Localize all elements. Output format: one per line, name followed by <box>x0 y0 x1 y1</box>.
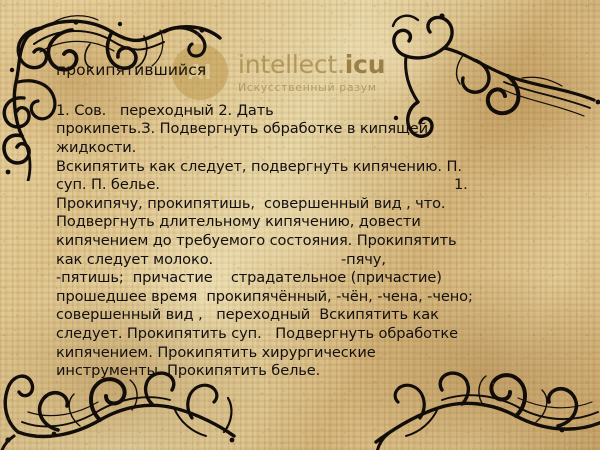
definition-line: прошедшее время прокипячённый, -чён, -че… <box>56 288 582 307</box>
definition-line: совершенный вид , переходный Вскипятить … <box>56 306 582 325</box>
definition-line: следует. Прокипятить суп. Подвергнуть об… <box>56 325 582 344</box>
definition-line: жидкости. <box>56 139 582 158</box>
definition-line: 1. Сов. переходный 2. Дать <box>56 102 582 121</box>
definition-line: инструменты. Прокипятить белье. <box>56 362 582 381</box>
definition-line: прокипеть.З. Подвергнуть обработке в кип… <box>56 120 582 139</box>
definition-line-tail: 1. <box>454 176 468 195</box>
definition-line: как следует молоко.-пячу, <box>56 251 582 270</box>
definition-line-tail: -пячу, <box>341 251 386 270</box>
definition-line: Подвергнуть длительному кипячению, довес… <box>56 213 582 232</box>
definition-line: кипячением до требуемого состояния. Прок… <box>56 232 582 251</box>
page-title: прокипятившийся <box>56 62 582 80</box>
slide-content: прокипятившийся 1. Сов. переходный 2. Да… <box>0 0 600 381</box>
definition-text: 1. Сов. переходный 2. Датьпрокипеть.З. П… <box>56 102 582 381</box>
definition-line: -пятишь; причастие страдательное (причас… <box>56 269 582 288</box>
definition-line: Вскипятить как следует, подвергнуть кипя… <box>56 158 582 177</box>
definition-line: суп. П. белье.1. <box>56 176 582 195</box>
slide-canvas: AI intellect.icu Искусственный разум про… <box>0 0 600 450</box>
definition-line: кипячением. Прокипятить хирургические <box>56 344 582 363</box>
definition-line: Прокипячу, прокипятишь, совершенный вид … <box>56 195 582 214</box>
